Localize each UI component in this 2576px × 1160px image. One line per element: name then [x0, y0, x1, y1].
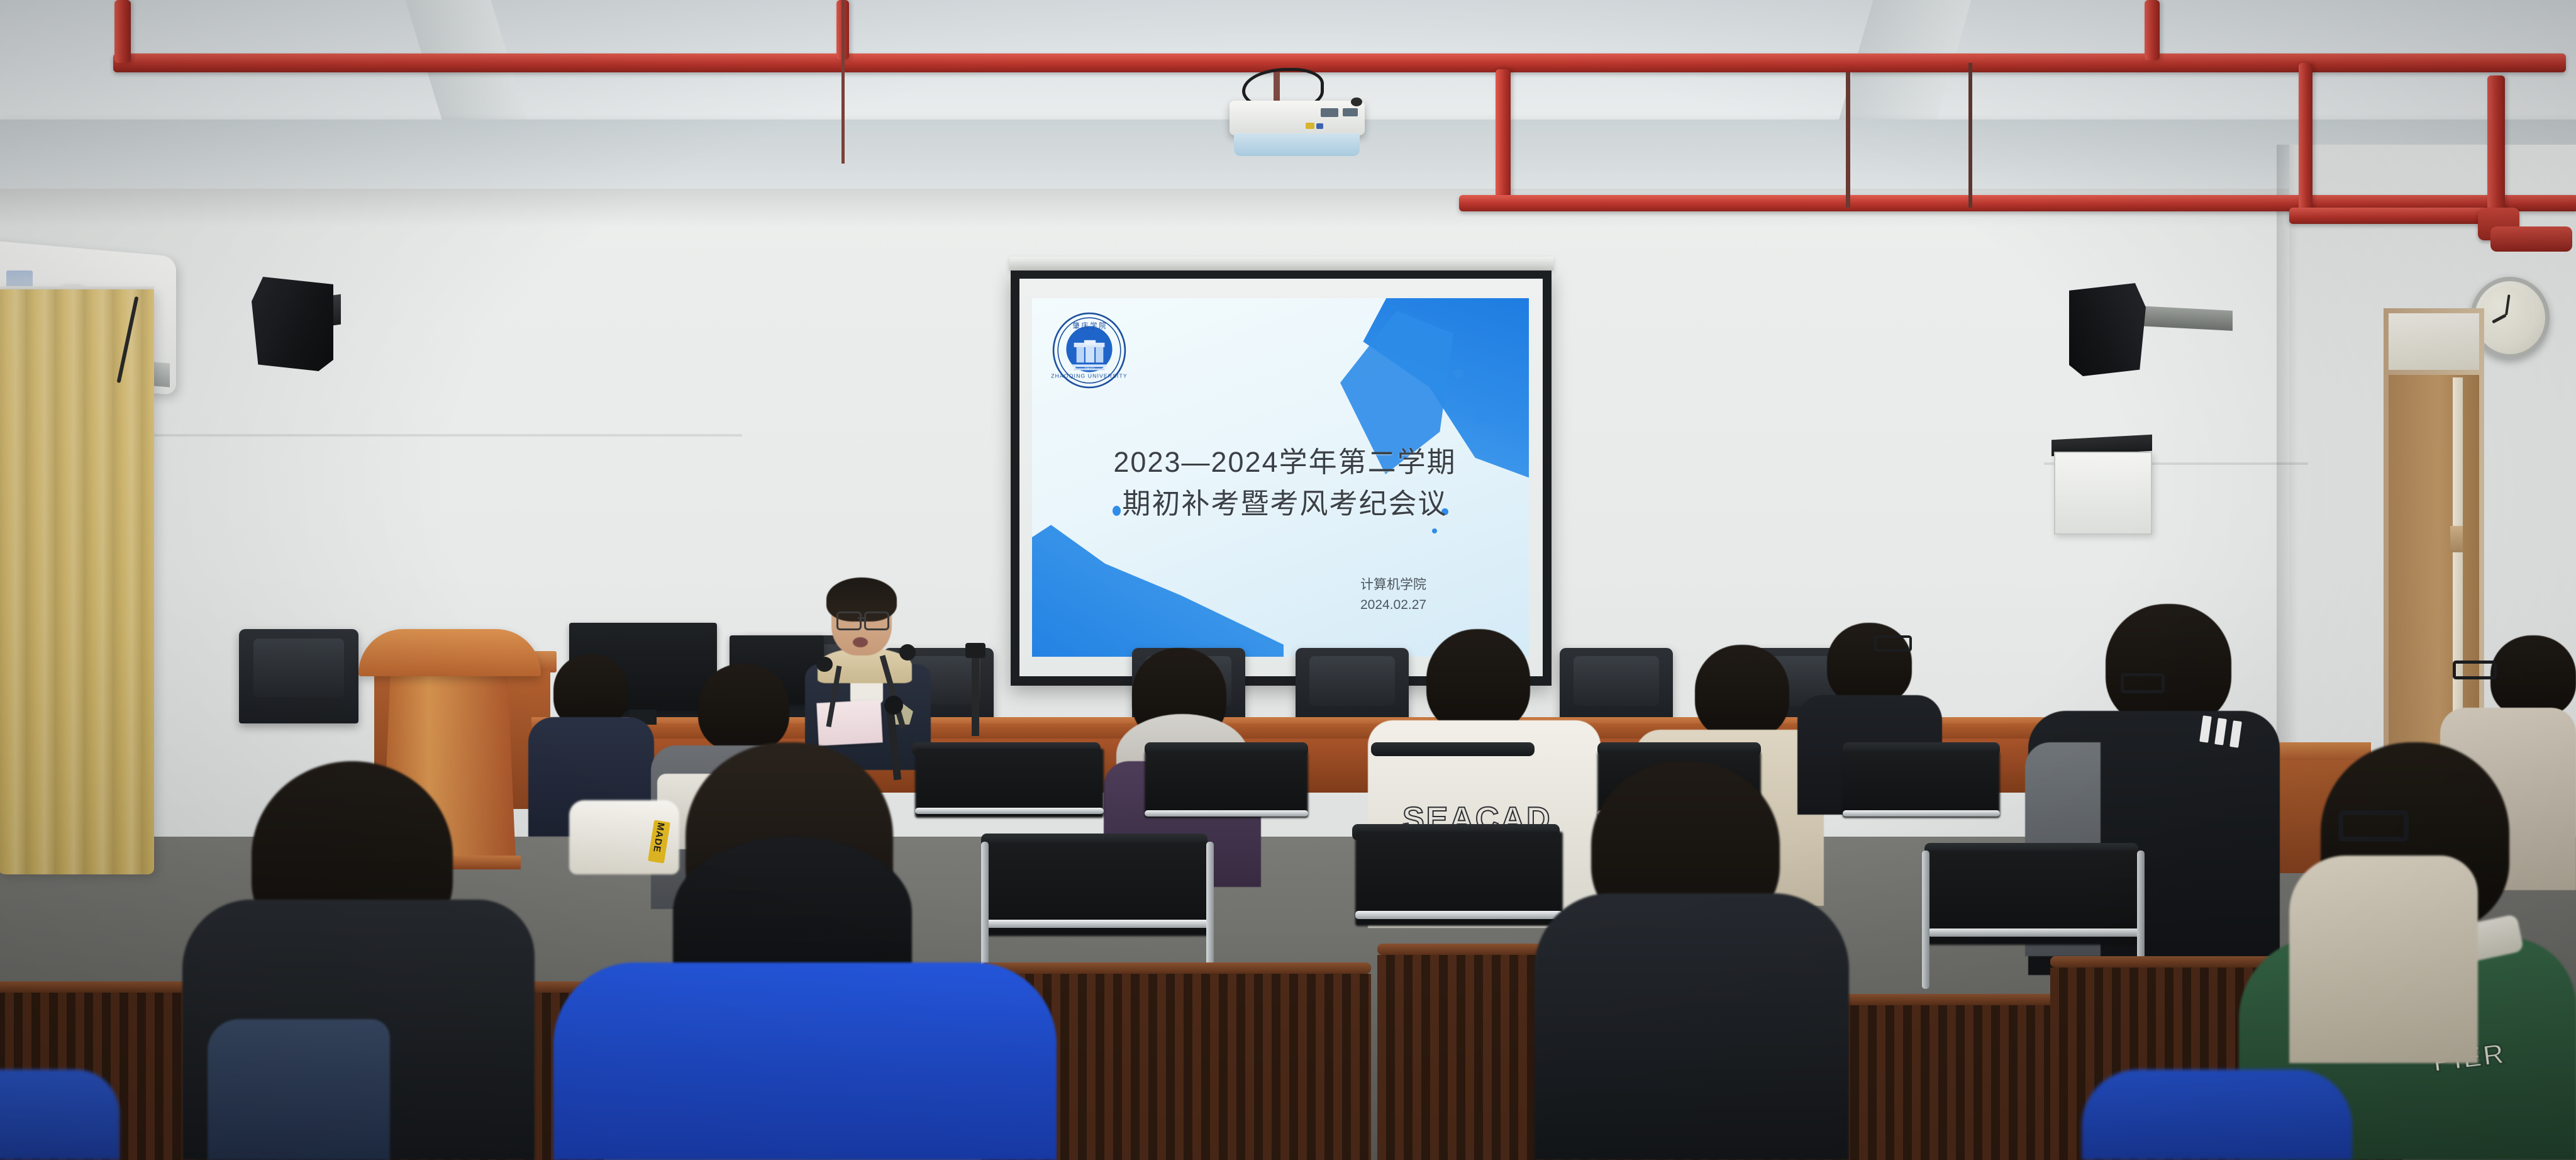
attendee-farright-glasses	[2453, 661, 2497, 679]
wall-speaker-left	[252, 277, 333, 371]
seat-chrome-row2-b	[1145, 810, 1308, 817]
window-curtain	[0, 289, 154, 874]
projector-port-hdmi	[1343, 108, 1358, 116]
seat-chrome-row3-b	[1355, 911, 1563, 919]
wall-speaker-right	[2069, 283, 2146, 376]
attendee-center-foreground-torso	[1535, 893, 1849, 1160]
attendee-seacad-head	[1426, 629, 1530, 733]
executive-chair-5[interactable]	[1296, 648, 1409, 728]
slide-meta-block: 计算机学院 2024.02.27	[1360, 575, 1499, 615]
sprinkler-drop-projector	[1496, 69, 1511, 201]
slide-title-line-1: 2023—2024学年第二学期	[1090, 442, 1480, 483]
sprinkler-drop-right	[2299, 63, 2312, 220]
bench-rail-center[interactable]	[981, 962, 1371, 974]
projected-slide: 肇 庆 学 院 ZHAOQING UNIVERSITY 1970 2023—20…	[1032, 298, 1529, 657]
seat-cap-row2-c[interactable]	[1371, 742, 1535, 756]
presenter-glasses-right-lens	[864, 611, 889, 630]
door-transom	[2389, 313, 2479, 370]
seat-frame-row3-c	[1922, 850, 1929, 989]
attendee-green-varsity-glasses	[2338, 810, 2409, 842]
sprinkler-riser-left	[114, 0, 131, 63]
attendee-rear-right-glasses	[1874, 635, 1912, 652]
seat-chrome-row2-a	[915, 808, 1104, 814]
seat-frame-row3-a	[981, 842, 989, 968]
projector-focus-knob	[1351, 98, 1362, 106]
ceiling-projector	[1230, 101, 1365, 135]
projector-port-vga	[1321, 108, 1338, 117]
attendee-farright-head	[2490, 635, 2576, 717]
camera-tripod	[972, 654, 979, 736]
pipe-flange-lower	[2490, 226, 2572, 252]
pipe-hanger-rod-2	[1846, 72, 1850, 208]
seat-chrome-row3-c	[1928, 929, 2141, 937]
attendee-front-left-backpack	[208, 1019, 390, 1160]
sprinkler-riser-right	[2145, 0, 2160, 60]
door-hinge-upper	[2450, 526, 2463, 552]
presenter-glasses-bridge	[858, 617, 865, 619]
lecture-hall-scene: 消防 通知	[0, 0, 2576, 1160]
attendee-beige-head	[1695, 645, 1789, 739]
slide-department: 计算机学院	[1360, 575, 1499, 595]
seat-frame-row3-b	[1206, 842, 1214, 968]
seat-chrome-row3-a	[984, 920, 1211, 928]
wall-corner-shadow	[2277, 145, 2298, 837]
attendee-adidas-head	[2106, 604, 2231, 727]
attendee-bottom-left-edge	[0, 1069, 119, 1160]
executive-chair-6[interactable]	[1560, 648, 1673, 728]
attendee-grey-hoodie-head	[698, 664, 789, 752]
lectern-top	[358, 629, 541, 676]
fire-sprinkler-pipe-main	[113, 53, 2566, 72]
slide-droplet-2	[1476, 409, 1490, 423]
sprinkler-elbow	[2289, 208, 2497, 224]
pipe-hanger-rod-1	[841, 0, 845, 164]
presenter-mouth	[853, 637, 868, 647]
attendee-blue-bottom-right-torso	[2082, 1069, 2352, 1160]
attendee-cream-puffer-torso	[2289, 856, 2478, 1063]
slide-title-line-2: 期初补考暨考风考纪会议	[1090, 483, 1480, 525]
projector-connector-yellow	[1306, 123, 1314, 129]
attendee-adidas-glasses	[2121, 673, 2165, 693]
svg-text:ZHAOQING UNIVERSITY: ZHAOQING UNIVERSITY	[1051, 373, 1127, 379]
projector-lens-housing	[1234, 133, 1360, 156]
seat-chrome-row2-d	[1843, 810, 2000, 817]
projection-screen-housing	[1009, 257, 1553, 270]
pipe-hanger-rod-3	[1968, 63, 1972, 208]
microphone-head-2	[816, 657, 833, 672]
camera-tripod-head	[965, 643, 985, 658]
svg-text:1970: 1970	[1084, 366, 1094, 371]
presenter-glasses-left-lens	[836, 611, 862, 630]
projector-connector-blue	[1316, 123, 1323, 129]
zhaoqing-university-emblem-icon: 肇 庆 学 院 ZHAOQING UNIVERSITY 1970	[1051, 312, 1128, 389]
electrical-distribution-panel[interactable]	[2054, 452, 2152, 535]
attendee-blue-puffer-torso	[553, 962, 1057, 1160]
executive-chair-8[interactable]	[239, 629, 358, 723]
slide-title-block: 2023—2024学年第二学期 期初补考暨考风考纪会议	[1090, 442, 1480, 525]
microphone-head-1	[899, 644, 916, 661]
seatback-row2-b[interactable]	[1145, 752, 1308, 818]
slide-droplet-4	[1432, 528, 1437, 533]
slide-date: 2024.02.27	[1360, 595, 1499, 615]
seatback-row2-d[interactable]	[1843, 752, 2000, 818]
svg-text:肇 庆 学 院: 肇 庆 学 院	[1072, 321, 1106, 330]
microphone-head-3	[884, 696, 903, 715]
slide-droplet-1	[1453, 369, 1463, 379]
